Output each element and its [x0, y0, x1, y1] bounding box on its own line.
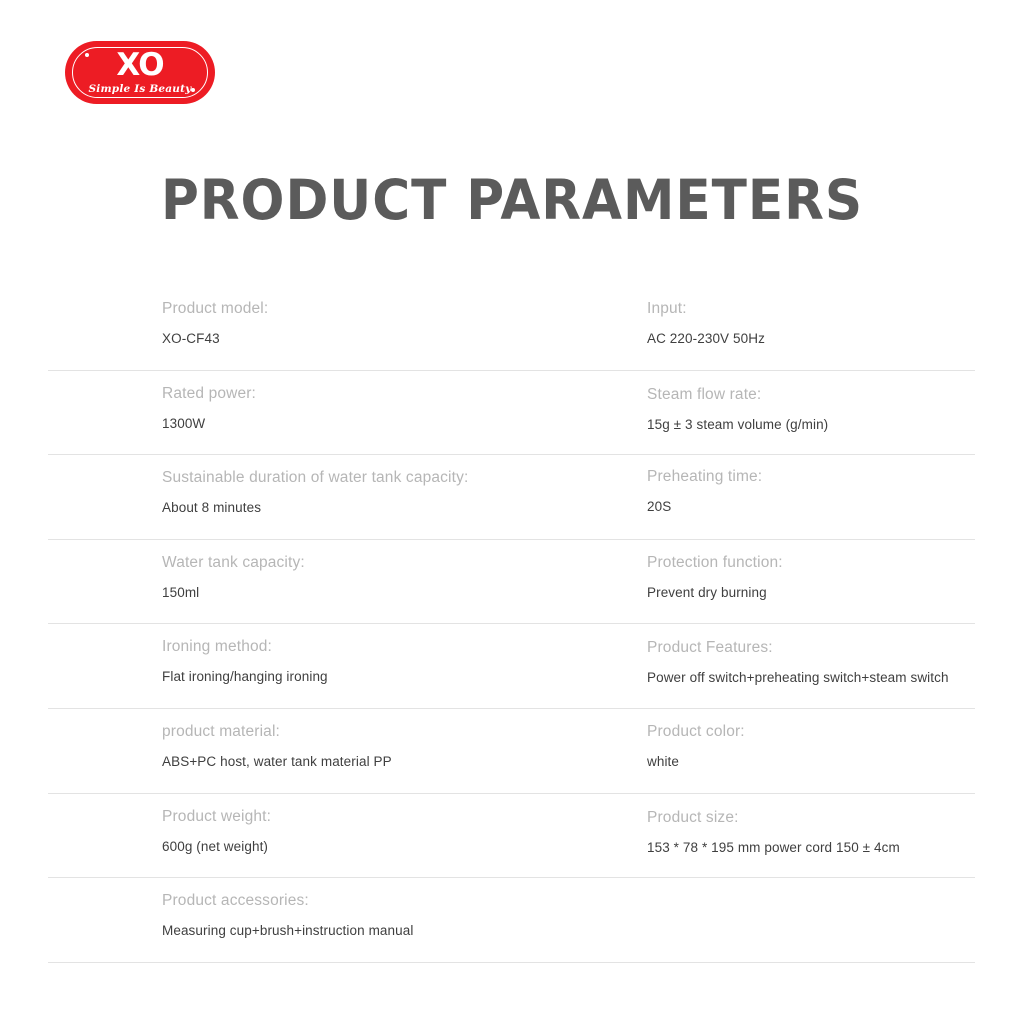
- spec-label: Input:: [647, 299, 765, 319]
- spec-label: Product weight:: [162, 807, 271, 827]
- spec-cell-left: product material: ABS+PC host, water tan…: [162, 709, 392, 771]
- spec-label: product material:: [162, 722, 392, 742]
- spec-cell-left: Product weight: 600g (net weight): [162, 794, 271, 856]
- table-row: Product model: XO-CF43 Input: AC 220-230…: [48, 286, 975, 371]
- spec-label: Product Features:: [647, 638, 949, 658]
- spec-cell-left: Product accessories: Measuring cup+brush…: [162, 878, 413, 940]
- spec-value: 20S: [647, 498, 762, 516]
- table-row: Product weight: 600g (net weight) Produc…: [48, 794, 975, 879]
- spec-label: Sustainable duration of water tank capac…: [162, 468, 468, 488]
- spec-label: Product accessories:: [162, 891, 413, 911]
- xo-brand-logo: XO Simple Is Beauty: [65, 41, 215, 104]
- spec-cell-left: Ironing method: Flat ironing/hanging iro…: [162, 624, 328, 686]
- table-row: Rated power: 1300W Steam flow rate: 15g …: [48, 371, 975, 456]
- spec-label: Product model:: [162, 299, 268, 319]
- logo-wordmark: XO: [65, 49, 215, 81]
- table-row: Product accessories: Measuring cup+brush…: [48, 878, 975, 963]
- table-row: Water tank capacity: 150ml Protection fu…: [48, 540, 975, 625]
- product-parameters-table: Product model: XO-CF43 Input: AC 220-230…: [48, 286, 975, 963]
- spec-cell-right: Input: AC 220-230V 50Hz: [647, 286, 765, 348]
- spec-label: Protection function:: [647, 553, 783, 573]
- page-title: PRODUCT PARAMETERS: [31, 167, 994, 233]
- spec-value: Flat ironing/hanging ironing: [162, 668, 328, 686]
- spec-cell-right: Product color: white: [647, 709, 745, 771]
- spec-cell-left: Rated power: 1300W: [162, 371, 256, 433]
- spec-cell-right: Product size: 153 * 78 * 195 mm power co…: [647, 794, 900, 857]
- spec-cell-left: Product model: XO-CF43: [162, 286, 268, 348]
- spec-value: Power off switch+preheating switch+steam…: [647, 669, 949, 687]
- spec-value: 15g ± 3 steam volume (g/min): [647, 416, 828, 434]
- spec-value: About 8 minutes: [162, 499, 468, 517]
- spec-value: 150ml: [162, 584, 305, 602]
- spec-label: Water tank capacity:: [162, 553, 305, 573]
- spec-label: Rated power:: [162, 384, 256, 404]
- spec-value: 600g (net weight): [162, 838, 271, 856]
- spec-value: XO-CF43: [162, 330, 268, 348]
- spec-value: Measuring cup+brush+instruction manual: [162, 922, 413, 940]
- spec-label: Preheating time:: [647, 467, 762, 487]
- spec-cell-left: Sustainable duration of water tank capac…: [162, 455, 468, 517]
- spec-value: 153 * 78 * 195 mm power cord 150 ± 4cm: [647, 839, 900, 857]
- spec-label: Steam flow rate:: [647, 385, 828, 405]
- spec-value: AC 220-230V 50Hz: [647, 330, 765, 348]
- table-row: Sustainable duration of water tank capac…: [48, 455, 975, 540]
- spec-cell-right: Steam flow rate: 15g ± 3 steam volume (g…: [647, 371, 828, 434]
- spec-value: ABS+PC host, water tank material PP: [162, 753, 392, 771]
- spec-label: Ironing method:: [162, 637, 328, 657]
- spec-cell-right: Protection function: Prevent dry burning: [647, 540, 783, 602]
- spec-value: white: [647, 753, 745, 771]
- spec-value: Prevent dry burning: [647, 584, 783, 602]
- spec-value: 1300W: [162, 415, 256, 433]
- spec-cell-right: Preheating time: 20S: [647, 455, 762, 516]
- spec-label: Product color:: [647, 722, 745, 742]
- spec-cell-right: Product Features: Power off switch+prehe…: [647, 624, 949, 687]
- logo-tagline: Simple Is Beauty: [65, 83, 215, 95]
- spec-cell-left: Water tank capacity: 150ml: [162, 540, 305, 602]
- table-row: product material: ABS+PC host, water tan…: [48, 709, 975, 794]
- spec-label: Product size:: [647, 808, 900, 828]
- table-row: Ironing method: Flat ironing/hanging iro…: [48, 624, 975, 709]
